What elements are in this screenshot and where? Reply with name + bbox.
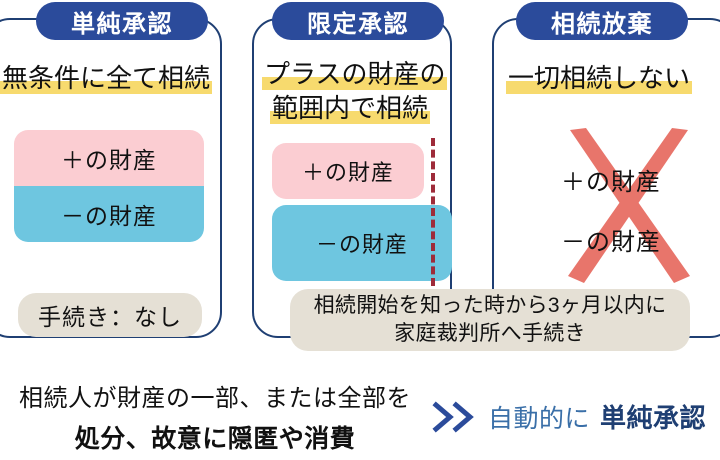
liability-limit-dashed-line bbox=[431, 138, 435, 286]
bottom-note: 相続人が財産の一部、または全部を 処分、故意に隠匿や消費 bbox=[0, 378, 440, 455]
double-chevron-right-icon bbox=[432, 400, 478, 434]
bottom-note-line-2: 処分、故意に隠匿や消費 bbox=[0, 419, 440, 455]
bottom-note-line-1: 相続人が財産の一部、または全部を bbox=[0, 378, 440, 413]
result-emphasis-label: 単純承認 bbox=[600, 398, 706, 435]
headline-marker-text: 範囲内で相続 bbox=[272, 88, 428, 125]
procedure-box-simple-acceptance: 手続き：なし bbox=[18, 293, 202, 337]
asset-plus-block-limited: ＋の財産 bbox=[272, 143, 424, 199]
headline-marker-text: プラスの財産の bbox=[264, 54, 445, 91]
headline-marker-text: 無条件に全て相続 bbox=[2, 58, 210, 95]
column-headline-simple-acceptance: 無条件に全て相続 bbox=[2, 58, 210, 95]
column-headline-limited-acceptance-line2: 範囲内で相続 bbox=[272, 88, 428, 125]
asset-minus-label-renunciation: －の財産 bbox=[506, 222, 716, 257]
column-headline-renunciation: 一切相続しない bbox=[508, 58, 690, 95]
procedure-box-shared: 相続開始を知った時から3ヶ月以内に 家庭裁判所へ手続き bbox=[290, 289, 690, 351]
procedure-line-2: 家庭裁判所へ手続き bbox=[394, 320, 586, 348]
asset-minus-block-limited: －の財産 bbox=[272, 205, 452, 281]
cross-out-x-icon bbox=[564, 128, 694, 283]
bottom-result: 自動的に 単純承認 bbox=[432, 398, 706, 435]
asset-plus-label-renunciation: ＋の財産 bbox=[506, 162, 716, 197]
column-headline-limited-acceptance-line1: プラスの財産の bbox=[264, 54, 445, 91]
asset-minus-block: －の財産 bbox=[14, 186, 204, 242]
headline-marker-text: 一切相続しない bbox=[508, 58, 690, 95]
result-prefix-label: 自動的に bbox=[488, 399, 590, 435]
diagram-canvas: 単純承認 無条件に全て相続 ＋の財産 －の財産 手続き：なし 限定承認 プラスの… bbox=[0, 0, 720, 460]
column-badge-limited-acceptance: 限定承認 bbox=[272, 2, 444, 40]
asset-group-renunciation: ＋の財産 －の財産 bbox=[506, 140, 716, 280]
column-badge-renunciation: 相続放棄 bbox=[516, 2, 688, 40]
column-badge-simple-acceptance: 単純承認 bbox=[36, 2, 208, 40]
asset-stack-simple-acceptance: ＋の財産 －の財産 bbox=[14, 130, 204, 242]
procedure-line-1: 相続開始を知った時から3ヶ月以内に bbox=[314, 292, 667, 320]
asset-plus-block: ＋の財産 bbox=[14, 130, 204, 186]
